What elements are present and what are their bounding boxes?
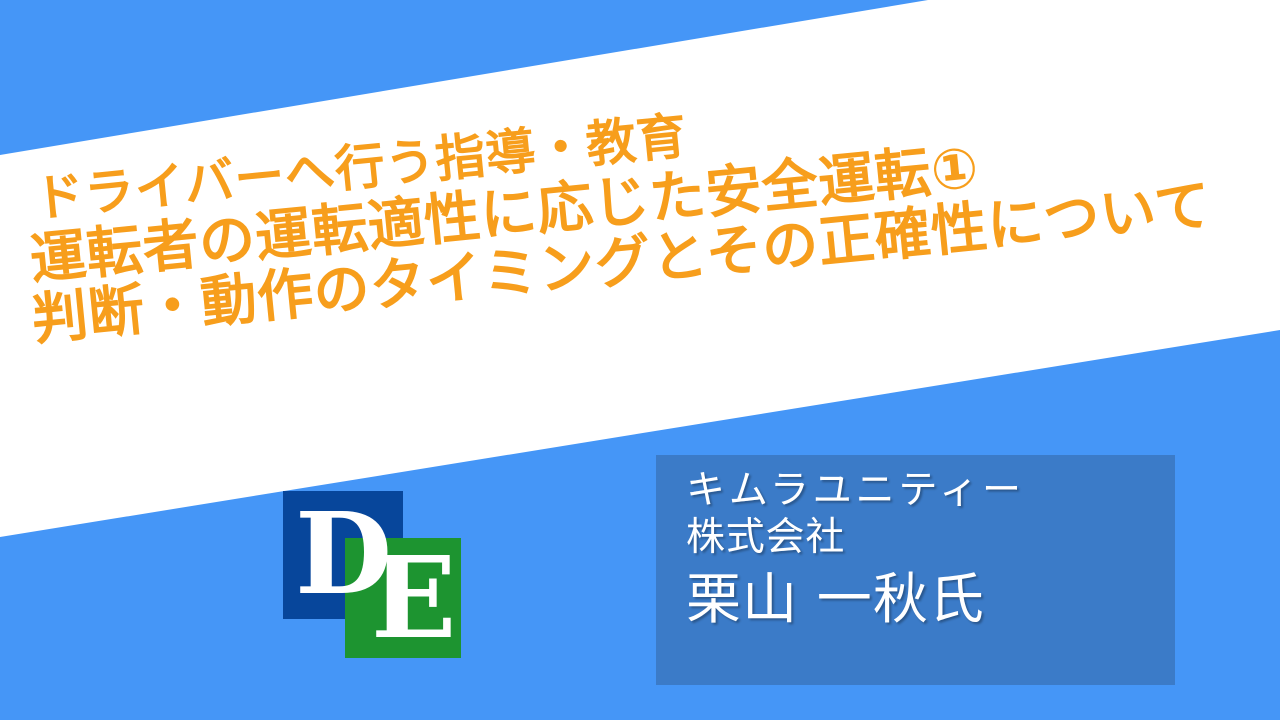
speaker-info-box: キムラユニティー 株式会社 栗山 一秋氏: [656, 455, 1175, 685]
slide-canvas: ドライバーへ行う指導・教育 運転者の運転適性に応じた安全運転① 判断・動作のタイ…: [0, 0, 1280, 720]
de-logo: D E: [283, 491, 463, 661]
speaker-company-kana: キムラユニティー: [686, 469, 1175, 514]
speaker-name: 栗山 一秋氏: [686, 565, 1175, 634]
logo-letter-e: E: [371, 541, 471, 657]
speaker-company-type: 株式会社: [686, 514, 1175, 563]
